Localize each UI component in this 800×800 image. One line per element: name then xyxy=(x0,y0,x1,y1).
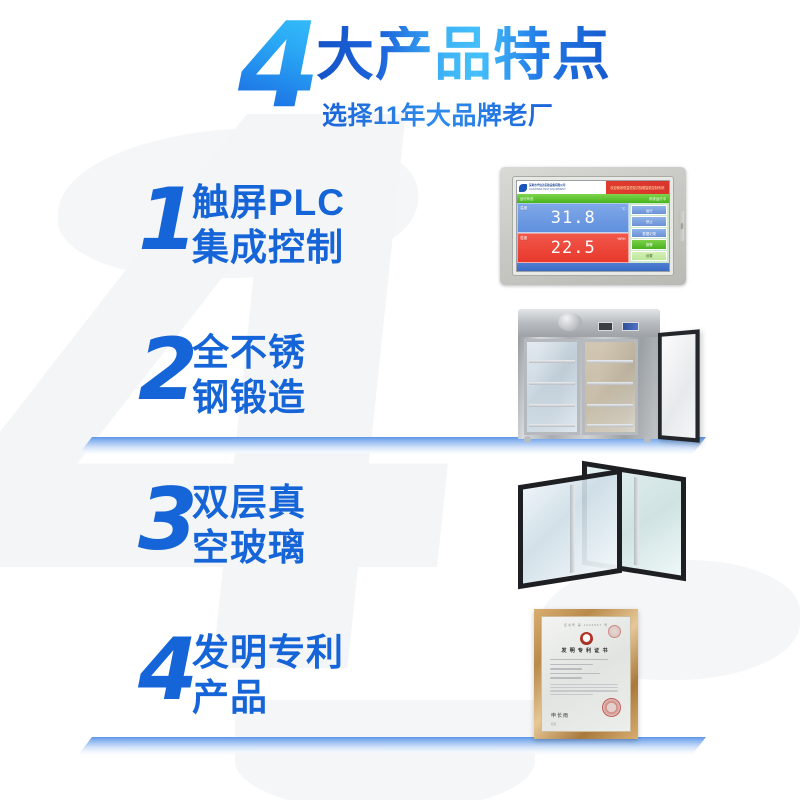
certificate-field-line xyxy=(550,668,582,669)
cabinet-open-door xyxy=(658,329,700,442)
certificate-signature: 申长雨 xyxy=(551,712,569,719)
cabinet-glass-door-right xyxy=(582,339,638,435)
feature-line1-4: 发明专利 xyxy=(192,632,344,673)
patent-certificate-frame: 证书号 第 1234567 号 发明专利证书 xyxy=(534,609,638,739)
certificate-text-line xyxy=(550,687,618,688)
temperature-unit: °C xyxy=(621,207,625,211)
cabinet-caster xyxy=(644,436,651,443)
certificate-field-line xyxy=(550,673,600,674)
certificate-red-seal xyxy=(602,698,621,717)
feature-line2-1: 集成控制 xyxy=(192,225,345,270)
cabinet-shelf xyxy=(587,382,633,385)
cabinet-shelf xyxy=(587,424,633,427)
feature-text-3: 双层真 空玻璃 xyxy=(192,480,306,570)
humidity-readout: 湿度 22.5 %RH xyxy=(517,233,629,263)
humidity-unit: %RH xyxy=(617,237,625,241)
humidity-value: 22.5 xyxy=(551,240,596,257)
cabinet-shelf xyxy=(529,424,575,427)
cabinet-shelf xyxy=(529,404,575,407)
cabinet-shelf xyxy=(529,382,575,385)
feature-row-1: 1 触屏PLC 集成控制 深圳市华信达实验设备有限公司 HUAXINDA TES… xyxy=(0,155,800,305)
cabinet-shelf xyxy=(529,360,575,363)
feature-line1-2: 全不锈 xyxy=(192,332,306,373)
feature-text-4: 发明专利 产品 xyxy=(192,630,344,720)
vacuum-glass-photo xyxy=(506,463,706,587)
feature-line1-3: 双层真 xyxy=(192,482,306,523)
feature-row-3: 3 双层真 空玻璃 xyxy=(0,455,800,605)
national-emblem-icon xyxy=(580,632,593,645)
certificate-page: 证书号 第 1234567 号 发明专利证书 xyxy=(541,616,631,732)
feature-row-2: 2 全不锈 钢锻造 xyxy=(0,305,800,455)
plc-brand-line1: 深圳市华信达实验设备有限公司 xyxy=(529,184,565,187)
glass-pane-front xyxy=(518,469,622,589)
poster-header: 4 大产品特点 选择11年大品牌老厂 xyxy=(0,0,800,150)
plc-body: 温度 31.8 °C 湿度 22.5 %RH xyxy=(517,203,669,263)
feature-image-2 xyxy=(470,305,720,445)
certificate-paragraph xyxy=(550,684,622,695)
plc-device-housing: 深圳市华信达实验设备有限公司 HUAXINDA TEST EQUIPMENT 欢… xyxy=(500,167,686,285)
cabinet-shelf xyxy=(587,360,633,363)
plc-marquee-text: 欢迎使用恒温恒湿试验箱智能控制系统 xyxy=(606,181,669,194)
page-title: 大产品特点 xyxy=(316,26,611,84)
certificate-title: 发明专利证书 xyxy=(550,647,622,654)
stainless-cabinet-photo xyxy=(498,309,698,443)
page-subtitle: 选择11年大品牌老厂 xyxy=(322,96,553,132)
feature-line2-2: 钢锻造 xyxy=(192,375,306,420)
plc-button-panel: 运行 停止 数据记录 报警 设置 xyxy=(629,203,669,263)
plc-topbar: 深圳市华信达实验设备有限公司 HUAXINDA TEST EQUIPMENT 欢… xyxy=(517,181,669,194)
cabinet-shelf xyxy=(587,404,633,407)
plc-button-stop[interactable]: 停止 xyxy=(631,216,667,226)
cabinet-vent-icon xyxy=(558,313,582,331)
certificate-text-line xyxy=(550,694,593,695)
plc-brand: 深圳市华信达实验设备有限公司 HUAXINDA TEST EQUIPMENT xyxy=(517,181,606,194)
feature-text-2: 全不锈 钢锻造 xyxy=(192,330,306,420)
plc-screen[interactable]: 深圳市华信达实验设备有限公司 HUAXINDA TEST EQUIPMENT 欢… xyxy=(516,180,670,272)
certificate-field-line xyxy=(550,664,593,665)
feature-line1-1: 触屏PLC xyxy=(192,182,345,223)
certificate-text-line xyxy=(550,684,618,685)
cabinet-top-panel xyxy=(518,309,660,337)
cabinet-display-secondary xyxy=(622,322,639,331)
feature-line2-3: 空玻璃 xyxy=(192,525,306,570)
plc-status-right: 系统运行中 xyxy=(649,196,666,201)
glass-spacer xyxy=(570,484,575,573)
company-logo-icon xyxy=(519,184,527,192)
cabinet-display xyxy=(598,322,613,331)
plc-status-left: 运行状态 xyxy=(520,196,534,201)
feature-image-3 xyxy=(470,455,720,595)
certificate-text-line xyxy=(550,690,618,691)
plc-button-settings[interactable]: 设置 xyxy=(631,251,667,261)
humidity-label: 湿度 xyxy=(520,236,527,241)
plc-bottom-bar xyxy=(517,263,669,271)
header-big-number: 4 xyxy=(238,6,316,124)
product-feature-poster: 4 4 大产品特点 选择11年大品牌老厂 1 触屏PLC 集成控制 xyxy=(0,0,800,800)
feature-image-1: 深圳市华信达实验设备有限公司 HUAXINDA TEST EQUIPMENT 欢… xyxy=(470,155,720,295)
feature-line2-4: 产品 xyxy=(192,675,344,720)
feature-text-1: 触屏PLC 集成控制 xyxy=(192,180,345,270)
plc-button-run[interactable]: 运行 xyxy=(631,205,667,215)
feature-row-4: 4 发明专利 产品 证书号 第 1234567 号 发明专利证书 xyxy=(0,605,800,755)
plc-side-strip: 设定 xyxy=(679,211,684,241)
plc-brand-line2: HUAXINDA TEST EQUIPMENT xyxy=(529,188,566,191)
glass-spacer xyxy=(634,477,639,566)
certificate-top-stamp xyxy=(608,625,621,638)
certificate-field-line xyxy=(550,659,608,660)
temperature-label: 温度 xyxy=(520,206,527,211)
cabinet-caster xyxy=(524,436,531,443)
plc-brand-text: 深圳市华信达实验设备有限公司 HUAXINDA TEST EQUIPMENT xyxy=(529,184,566,190)
cabinet-glass-door-left xyxy=(524,339,580,435)
plc-button-data-log[interactable]: 数据记录 xyxy=(631,228,667,238)
plc-bezel: 深圳市华信达实验设备有限公司 HUAXINDA TEST EQUIPMENT 欢… xyxy=(512,176,674,276)
certificate-signature-label: 局长 xyxy=(551,722,556,726)
feature-image-4: 证书号 第 1234567 号 发明专利证书 xyxy=(470,605,720,745)
plc-button-alarm[interactable]: 报警 xyxy=(631,239,667,249)
plc-readouts: 温度 31.8 °C 湿度 22.5 %RH xyxy=(517,203,629,263)
certificate-field-line xyxy=(550,677,582,678)
temperature-value: 31.8 xyxy=(551,210,596,227)
temperature-readout: 温度 31.8 °C xyxy=(517,203,629,233)
plc-status-bar: 运行状态 系统运行中 xyxy=(517,194,669,203)
